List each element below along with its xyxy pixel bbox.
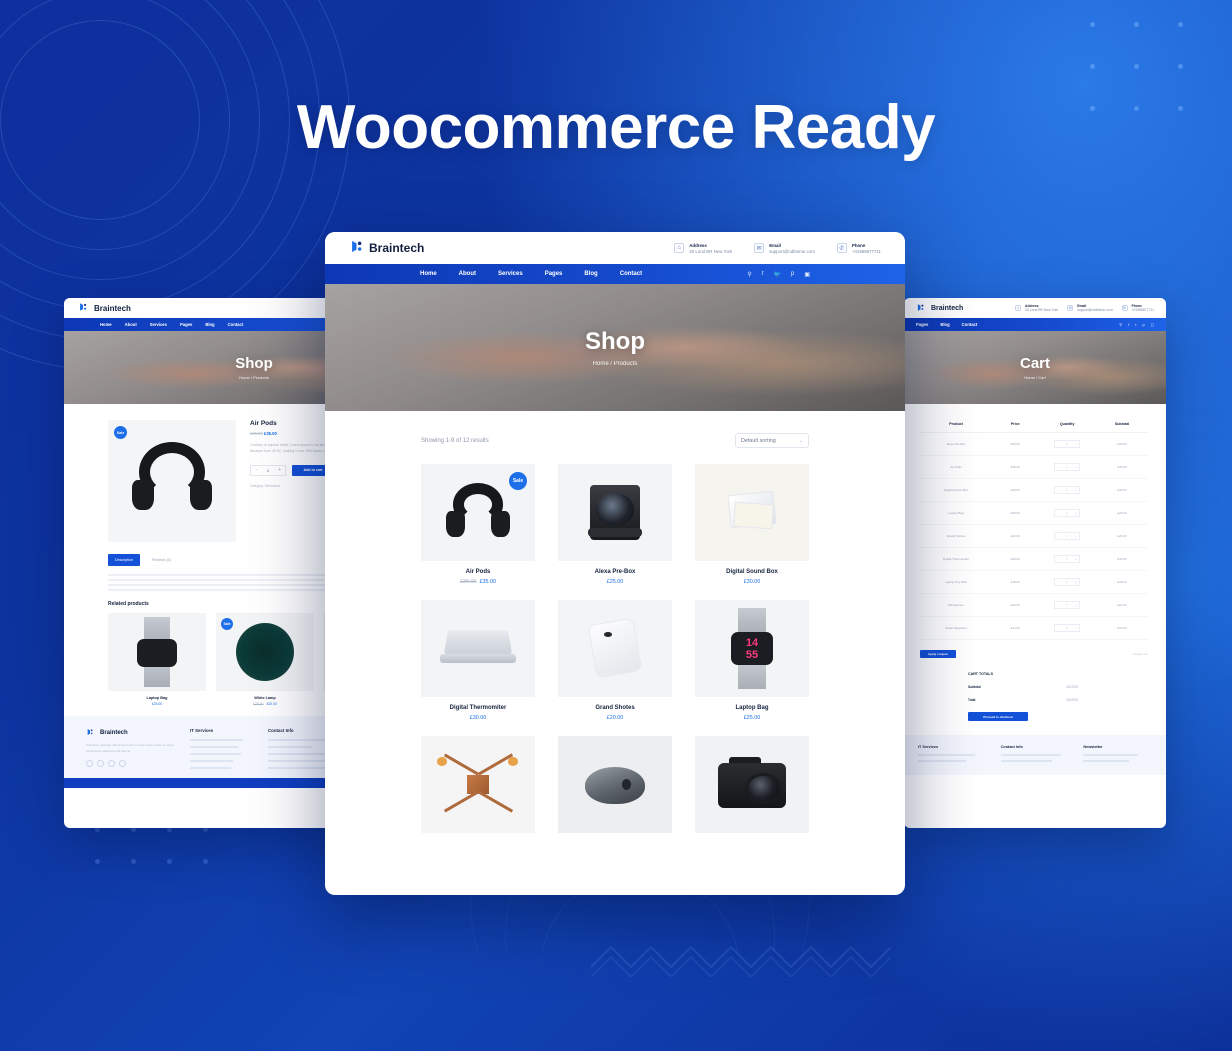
cart-price: £18.00 (992, 580, 1038, 584)
lamp-art (216, 613, 314, 691)
product-name: Digital Thermomiter (421, 705, 535, 711)
envelope-icon: ✉ (754, 243, 764, 253)
qty-plus-button[interactable]: + (1075, 442, 1077, 446)
table-row[interactable]: Digital Sound Box £30.00 -1+ £30.00 (920, 479, 1148, 502)
contact-label: Email (769, 243, 815, 248)
cart-subtotal: £25.00 (1096, 511, 1148, 515)
qty-minus-button[interactable]: - (1057, 557, 1058, 561)
quantity-stepper[interactable]: -1+ (1054, 578, 1080, 586)
table-row[interactable]: Laptop Bag £25.00 -1+ £25.00 (920, 502, 1148, 525)
pinterest-icon[interactable]: p (791, 271, 794, 277)
product-thumbnail[interactable] (695, 736, 809, 833)
contact-email: ✉ Email support@ndtheme.com (754, 243, 815, 254)
cart-product-name: Air Pods (920, 465, 992, 469)
nav-item-home[interactable]: Home (420, 271, 437, 277)
qty-plus-button[interactable]: + (1075, 626, 1077, 630)
footer-brand[interactable]: Braintech (86, 728, 174, 738)
quantity-stepper[interactable]: - 1 + (250, 465, 286, 476)
quantity-stepper[interactable]: -1+ (1054, 440, 1080, 448)
qty-value[interactable]: 1 (1066, 488, 1068, 492)
cart-product-name: Digital Sound Box (920, 488, 992, 492)
product-thumbnail[interactable] (421, 600, 535, 697)
cart-price: £30.00 (992, 557, 1038, 561)
phone-icon: ✆ (1122, 305, 1128, 311)
qty-minus-button[interactable]: - (1057, 603, 1058, 607)
table-row[interactable]: Power Engraver £14.00 -1+ £14.00 (920, 617, 1148, 640)
watch-art (108, 613, 206, 691)
twitter-icon[interactable]: t (1135, 322, 1136, 327)
site-header: Braintech ⌂ Address 25 Lond BR New York … (325, 232, 905, 264)
nav-item-blog[interactable]: Blog (940, 322, 949, 327)
phone-art (558, 600, 672, 697)
laptop-art (421, 600, 535, 697)
product-thumbnail[interactable] (558, 464, 672, 561)
footer-about-text: Phasellus nascetur ullamcorper dictum lo… (86, 743, 174, 754)
qty-plus-button[interactable]: + (1075, 603, 1077, 607)
product-thumbnail[interactable] (558, 736, 672, 833)
brand-logo[interactable]: Braintech (349, 239, 424, 257)
browser-window-cart[interactable]: Braintech ⌂ Address 25 Lond BR New York … (904, 298, 1166, 828)
qty-value[interactable]: 1 (262, 466, 274, 475)
qty-plus-button[interactable]: + (1075, 488, 1077, 492)
braintech-logo-icon (349, 239, 364, 257)
apply-coupon-button[interactable]: Apply coupon (920, 650, 956, 658)
page-hero: Cart Home / Cart (904, 331, 1166, 404)
headphones-art (108, 420, 236, 542)
product-old-price: £39.00 (250, 431, 263, 436)
product-price: £25.00 (108, 702, 206, 706)
decorative-zigzag (591, 937, 891, 977)
qty-plus-button[interactable]: + (1075, 465, 1077, 469)
cart-product-name: Alexa Pre-Box (920, 442, 992, 446)
quantity-stepper[interactable]: -1+ (1054, 486, 1080, 494)
qty-plus-button[interactable]: + (1075, 580, 1077, 584)
watch-art: 1455 (695, 600, 809, 697)
location-icon: ⌂ (1015, 305, 1021, 311)
contact-address: ⌂ Address 25 Lond BR New York (1015, 304, 1058, 312)
table-row[interactable]: Microphone £22.00 -1+ £22.00 (920, 594, 1148, 617)
product-thumbnail[interactable]: Sale (216, 613, 314, 691)
brand-name: Braintech (369, 241, 424, 255)
instagram-icon[interactable] (119, 760, 126, 767)
brand-logo[interactable]: Braintech (916, 303, 963, 314)
product-price: £25.00 (558, 579, 672, 585)
product-price: £25.00 (695, 715, 809, 721)
table-row[interactable]: Air Pods £35.00 -1+ £35.00 (920, 456, 1148, 479)
tab-reviews[interactable]: Reviews (0) (145, 554, 178, 566)
cart-price: £30.00 (992, 488, 1038, 492)
qty-minus-button[interactable]: - (1057, 626, 1058, 630)
quantity-stepper[interactable]: -1+ (1054, 624, 1080, 632)
qty-plus-button[interactable]: + (1075, 534, 1077, 538)
phone-icon: ✆ (837, 243, 847, 253)
footer-brand-name: Braintech (100, 730, 128, 736)
hero-title: Cart (1020, 355, 1050, 372)
product-thumbnail[interactable]: 1455 (695, 600, 809, 697)
brand-name: Braintech (94, 304, 131, 313)
product-price: £30.00 (695, 579, 809, 585)
instagram-icon[interactable]: ◻ (1151, 322, 1154, 327)
subtotal-label: Subtotal (968, 685, 981, 689)
footer-column-title: Newsletter (1083, 745, 1154, 749)
subtotal-value: £219.00 (1066, 685, 1078, 689)
browser-window-shop[interactable]: Braintech ⌂ Address 25 Lond BR New York … (325, 232, 905, 895)
qty-minus-button[interactable]: - (251, 466, 262, 475)
quantity-stepper[interactable]: -1+ (1054, 555, 1080, 563)
search-icon[interactable]: ⚲ (747, 271, 751, 278)
cart-product-name: Laptop Key Skin (920, 580, 992, 584)
nav-item-contact[interactable]: Contact (620, 271, 642, 277)
qty-minus-button[interactable]: - (1057, 511, 1058, 515)
qty-value[interactable]: 1 (1066, 603, 1068, 607)
product-thumbnail[interactable] (421, 736, 535, 833)
contact-phone: ✆ Phone +01988877711 (837, 243, 881, 254)
copper-art (421, 736, 535, 833)
contact-phone: ✆ Phone +01988877711 (1122, 304, 1154, 312)
breadcrumb: Home / Products (239, 375, 269, 380)
results-count: Showing 1-9 of 12 results (421, 438, 489, 444)
product-thumbnail[interactable] (108, 613, 206, 691)
product-price: £20.00 (558, 715, 672, 721)
cart-subtotal: £22.00 (1096, 603, 1148, 607)
product-card[interactable]: Sale Air Pods £39.00£35.00 (421, 464, 535, 585)
product-name: Digital Sound Box (695, 569, 809, 575)
qty-minus-button[interactable]: - (1057, 488, 1058, 492)
nav-item-contact[interactable]: Contact (962, 322, 978, 327)
qty-minus-button[interactable]: - (1057, 534, 1058, 538)
mouse-art (558, 736, 672, 833)
nav-item-pages[interactable]: Pages (916, 322, 928, 327)
cart-price: £25.00 (992, 442, 1038, 446)
facebook-icon[interactable]: f (1128, 322, 1129, 327)
sort-value: Default sorting (741, 438, 776, 444)
cart-price: £25.00 (992, 511, 1038, 515)
contact-value: support@ndtheme.com (1077, 308, 1112, 312)
column-price: Price (992, 422, 1038, 426)
table-row[interactable]: Laptop Key Skin £18.00 -1+ £18.00 (920, 571, 1148, 594)
twitter-icon[interactable] (97, 760, 104, 767)
sort-select[interactable]: Default sorting ⌄ (735, 433, 809, 448)
pinterest-icon[interactable] (108, 760, 115, 767)
product-price: £35.00 (264, 431, 277, 436)
brand-name: Braintech (931, 305, 963, 312)
contact-label: Phone (852, 243, 881, 248)
location-icon: ⌂ (674, 243, 684, 253)
qty-value[interactable]: 1 (1066, 626, 1068, 630)
update-cart-button[interactable]: Update cart (1132, 652, 1148, 656)
nav-item-about[interactable]: About (125, 322, 137, 327)
footer-column-title: IT Services (918, 745, 989, 749)
quantity-stepper[interactable]: -1+ (1054, 532, 1080, 540)
qty-value[interactable]: 1 (1066, 442, 1068, 446)
soundbox-art (695, 464, 809, 561)
qty-plus-button[interactable]: + (1075, 557, 1077, 561)
contact-value: 25 Lond BR New York (689, 249, 732, 254)
product-grid: Sale Air Pods £39.00£35.00 Alexa Pre-Box… (325, 448, 905, 833)
breadcrumb: Home / Products (593, 361, 638, 367)
twitter-icon[interactable]: 🐦 (774, 271, 781, 278)
cart-subtotal: £30.00 (1096, 488, 1148, 492)
table-row[interactable]: Digital Thermomiter £30.00 -1+ £30.00 (920, 548, 1148, 571)
cart-product-name: Digital Thermomiter (920, 557, 992, 561)
cart-table-body: Alexa Pre-Box £25.00 -1+ £25.00Air Pods … (920, 433, 1148, 640)
product-name: Alexa Pre-Box (558, 569, 672, 575)
cart-subtotal: £18.00 (1096, 580, 1148, 584)
qty-value[interactable]: 1 (1066, 557, 1068, 561)
hero-title: Shop (585, 328, 645, 356)
column-product: Product (920, 422, 992, 426)
chevron-down-icon: ⌄ (799, 438, 803, 444)
cart-price: £35.00 (992, 465, 1038, 469)
nav-item-blog[interactable]: Blog (205, 322, 214, 327)
nav-item-about[interactable]: About (459, 271, 476, 277)
quantity-stepper[interactable]: -1+ (1054, 463, 1080, 471)
product-price: £20.00 (267, 702, 277, 706)
product-name: White Lamp (216, 696, 314, 700)
cart-subtotal: £35.00 (1096, 465, 1148, 469)
contact-value: support@ndtheme.com (769, 249, 815, 254)
product-name: Laptop Bag (695, 705, 809, 711)
cart-price: £22.00 (992, 603, 1038, 607)
instagram-icon[interactable]: ▣ (804, 271, 810, 278)
page-title: Woocommerce Ready (0, 92, 1232, 163)
product-card[interactable] (421, 736, 535, 833)
related-product-card[interactable]: Sale White Lamp £25.00£20.00 (216, 613, 314, 706)
product-card[interactable]: Digital Thermomiter £30.00 (421, 600, 535, 721)
headphones-art (421, 464, 535, 561)
qty-minus-button[interactable]: - (1057, 465, 1058, 469)
brand-logo[interactable]: Braintech (78, 302, 131, 314)
qty-minus-button[interactable]: - (1057, 442, 1058, 446)
cart-subtotal: £14.00 (1096, 626, 1148, 630)
qty-plus-button[interactable]: + (1075, 511, 1077, 515)
main-nav[interactable]: Pages Blog Contact ⚲ f t p ◻ (904, 318, 1166, 331)
cart-price: £20.00 (992, 534, 1038, 538)
shop-toolbar: Showing 1-9 of 12 results Default sortin… (325, 411, 905, 448)
search-icon[interactable]: ⚲ (1119, 322, 1122, 327)
camera-art (695, 736, 809, 833)
nav-item-services[interactable]: Services (498, 271, 523, 277)
proceed-to-checkout-button[interactable]: Proceed to checkout (968, 712, 1028, 721)
product-price: £39.00£35.00 (421, 579, 535, 585)
product-price: £30.00 (421, 715, 535, 721)
facebook-icon[interactable]: f (762, 271, 764, 277)
main-nav[interactable]: Home About Services Pages Blog Contact ⚲… (325, 264, 905, 284)
footer-column-title: IT Services (190, 728, 252, 733)
table-row[interactable]: Grand Shotes £20.00 -1+ £20.00 (920, 525, 1148, 548)
product-old-price: £39.00 (460, 579, 477, 585)
lens-art (558, 464, 672, 561)
product-thumbnail[interactable] (695, 464, 809, 561)
pinterest-icon[interactable]: p (1142, 322, 1144, 327)
product-image[interactable]: Sale (108, 420, 236, 542)
product-card[interactable]: Digital Sound Box £30.00 (695, 464, 809, 585)
site-footer: IT Services Contact Info Newsletter (904, 735, 1166, 775)
nav-item-blog[interactable]: Blog (584, 271, 597, 277)
facebook-icon[interactable] (86, 760, 93, 767)
total-value: £219.00 (1066, 698, 1078, 702)
product-card[interactable] (558, 736, 672, 833)
product-old-price: £25.00 (253, 702, 263, 706)
cart-product-name: Microphone (920, 603, 992, 607)
product-name: Air Pods (421, 569, 535, 575)
qty-value[interactable]: 1 (1066, 465, 1068, 469)
contact-label: Address (689, 243, 732, 248)
contact-value: 25 Lond BR New York (1025, 308, 1058, 312)
product-card[interactable]: Grand Shotes £20.00 (558, 600, 672, 721)
cart-subtotal: £25.00 (1096, 442, 1148, 446)
product-card[interactable]: Alexa Pre-Box £25.00 (558, 464, 672, 585)
nav-item-pages[interactable]: Pages (545, 271, 563, 277)
contact-address: ⌂ Address 25 Lond BR New York (674, 243, 732, 254)
envelope-icon: ✉ (1067, 305, 1073, 311)
cart-subtotal: £30.00 (1096, 557, 1148, 561)
cart-table-header: Product Price Quantity Subtotal (920, 422, 1148, 433)
total-label: Total (968, 698, 975, 702)
cart-product-name: Power Engraver (920, 626, 992, 630)
quantity-stepper[interactable]: -1+ (1054, 601, 1080, 609)
product-name: Grand Shotes (558, 705, 672, 711)
contact-value: +01988877711 (852, 249, 881, 254)
cart-product-name: Grand Shotes (920, 534, 992, 538)
nav-item-pages[interactable]: Pages (180, 322, 192, 327)
qty-plus-button[interactable]: + (274, 466, 285, 475)
breadcrumb: Home / Cart (1024, 375, 1046, 380)
nav-item-services[interactable]: Services (150, 322, 167, 327)
contact-email: ✉ Email support@ndtheme.com (1067, 304, 1112, 312)
cart-totals-title: CART TOTALS (968, 672, 1148, 676)
product-card[interactable]: 1455 Laptop Bag £25.00 (695, 600, 809, 721)
nav-item-contact[interactable]: Contact (228, 322, 244, 327)
qty-value[interactable]: 1 (1066, 534, 1068, 538)
product-thumbnail[interactable] (558, 600, 672, 697)
contact-value: +01988877711 (1132, 308, 1154, 312)
quantity-stepper[interactable]: -1+ (1054, 509, 1080, 517)
cart-product-name: Laptop Bag (920, 511, 992, 515)
qty-value[interactable]: 1 (1066, 511, 1068, 515)
braintech-logo-icon (86, 728, 94, 738)
page-hero: Shop Home / Products (325, 284, 905, 411)
table-row[interactable]: Alexa Pre-Box £25.00 -1+ £25.00 (920, 433, 1148, 456)
qty-minus-button[interactable]: - (1057, 580, 1058, 584)
related-product-card[interactable]: Laptop Bag £25.00 (108, 613, 206, 706)
nav-item-home[interactable]: Home (100, 322, 112, 327)
braintech-logo-icon (78, 302, 88, 314)
column-quantity: Quantity (1038, 422, 1096, 426)
footer-column-title: Contact Info (1001, 745, 1072, 749)
footer-social[interactable] (86, 760, 174, 767)
product-card[interactable] (695, 736, 809, 833)
hero-title: Shop (235, 355, 273, 372)
column-subtotal: Subtotal (1096, 422, 1148, 426)
qty-value[interactable]: 1 (1066, 580, 1068, 584)
cart-price: £14.00 (992, 626, 1038, 630)
braintech-logo-icon (916, 303, 925, 314)
product-thumbnail[interactable]: Sale (421, 464, 535, 561)
tab-description[interactable]: Description (108, 554, 140, 566)
product-name: Laptop Bag (108, 696, 206, 700)
site-header: Braintech ⌂ Address 25 Lond BR New York … (904, 298, 1166, 318)
cart-subtotal: £20.00 (1096, 534, 1148, 538)
